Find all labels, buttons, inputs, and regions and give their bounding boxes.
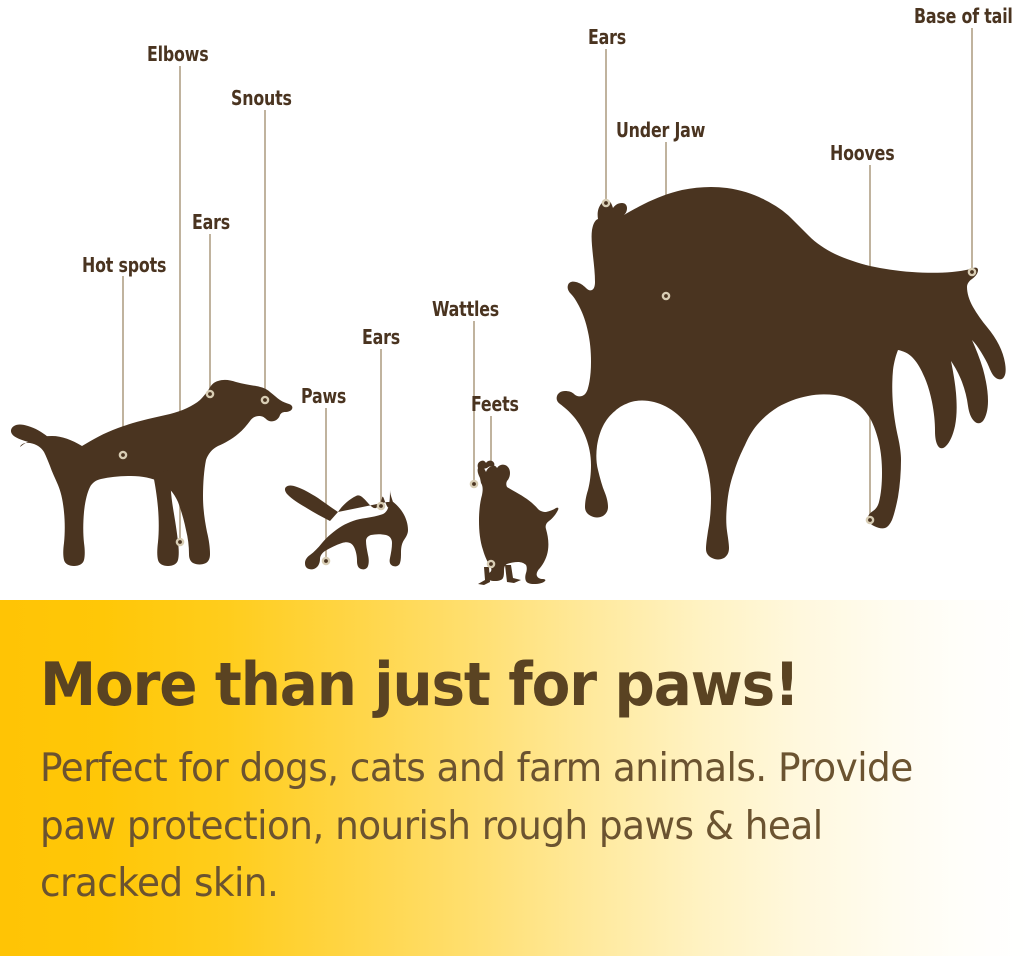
marker-hot-spots <box>119 451 128 460</box>
callout-label-elbows: Elbows <box>147 44 208 64</box>
diagram-canvas <box>0 0 1029 600</box>
marker-base-of-tail <box>968 268 977 277</box>
callout-label-feets: Feets <box>471 394 519 414</box>
callout-label-base-of-tail: Base of tail <box>914 6 1013 26</box>
marker-ears-cat <box>377 502 386 511</box>
marker-under-jaw <box>662 292 671 301</box>
banner-headline: More than just for paws! <box>40 655 799 715</box>
banner-body-line-3: cracked skin. <box>40 855 947 913</box>
callout-label-hooves: Hooves <box>830 143 894 163</box>
callout-label-ears-dog: Ears <box>192 212 230 232</box>
callout-label-ears-horse: Ears <box>588 27 626 47</box>
cat-silhouette <box>285 486 408 570</box>
banner-body-line-1: Perfect for dogs, cats and farm animals.… <box>40 740 947 798</box>
callout-label-ears-cat: Ears <box>362 327 400 347</box>
marker-wattles <box>470 480 479 489</box>
callout-label-hot-spots: Hot spots <box>82 255 166 275</box>
marker-ears-dog <box>206 390 215 399</box>
marker-elbows <box>176 538 185 547</box>
promo-banner: More than just for paws! Perfect for dog… <box>0 600 1029 956</box>
callout-label-wattles: Wattles <box>432 299 499 319</box>
callout-label-under-jaw: Under Jaw <box>616 120 705 140</box>
infographic-page: Hot spotsElbowsEarsSnoutsPawsEarsWattles… <box>0 0 1029 956</box>
callout-label-paws: Paws <box>301 386 346 406</box>
horse-silhouette <box>557 187 1006 560</box>
marker-hooves <box>866 516 875 525</box>
marker-paws <box>322 557 331 566</box>
marker-feets <box>487 560 496 569</box>
marker-snouts <box>261 396 270 405</box>
banner-body-copy: Perfect for dogs, cats and farm animals.… <box>40 740 947 913</box>
callout-label-snouts: Snouts <box>231 88 292 108</box>
dog-silhouette <box>11 380 292 566</box>
banner-body-line-2: paw protection, nourish rough paws & hea… <box>40 798 947 856</box>
animal-diagram: Hot spotsElbowsEarsSnoutsPawsEarsWattles… <box>0 0 1029 600</box>
marker-ears-horse <box>602 199 611 208</box>
